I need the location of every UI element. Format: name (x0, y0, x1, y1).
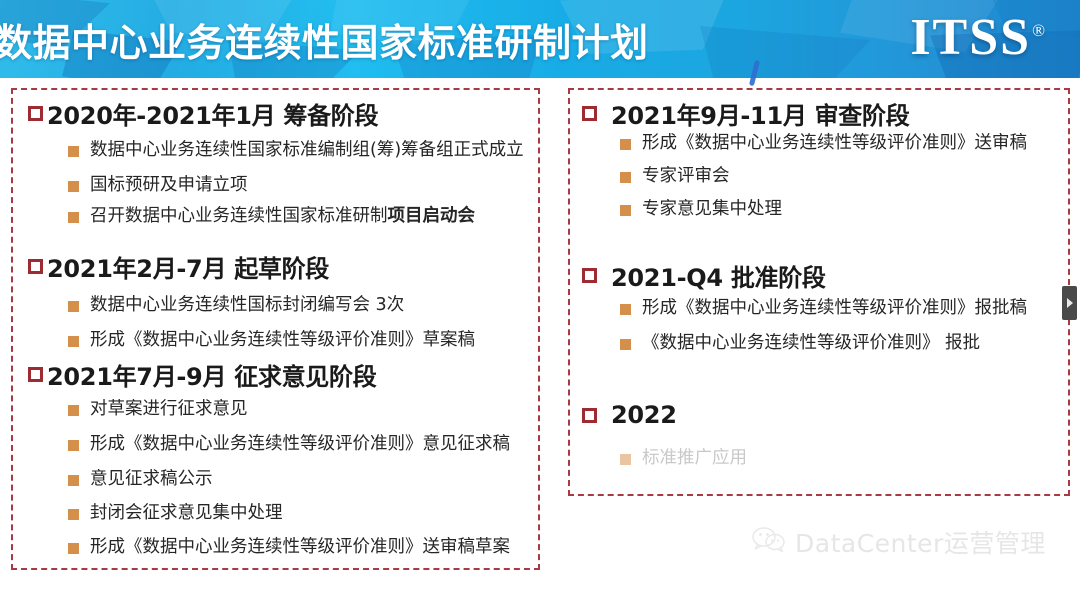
registered-trademark-icon: ® (1032, 21, 1045, 40)
square-bullet-icon (68, 181, 79, 192)
square-bullet-icon (68, 301, 79, 312)
list-item-label: 对草案进行征求意见 (90, 399, 248, 421)
list-item-label: 《数据中心业务连续性等级评价准则》 报批 (642, 333, 980, 355)
square-bullet-icon (620, 454, 631, 465)
list-item: 形成《数据中心业务连续性等级评价准则》意见征求稿 (68, 434, 510, 456)
slide-root: 数据中心业务连续性国家标准研制计划 ITSS® 2020年-2021年1月 筹备… (0, 0, 1080, 599)
list-item: 专家意见集中处理 (620, 199, 782, 221)
banner-shard (700, 26, 870, 78)
list-item-label: 标准推广应用 (642, 448, 747, 470)
phase-block: 2021年9月-11月 审查阶段 (582, 96, 1062, 131)
phase-block: 2021-Q4 批准阶段 (582, 258, 1062, 293)
list-item: 数据中心业务连续性国家标准编制组(筹)筹备组正式成立 (68, 140, 524, 162)
list-item: 专家评审会 (620, 166, 730, 188)
list-item-label: 形成《数据中心业务连续性等级评价准则》送审稿 (642, 133, 1027, 155)
square-bullet-icon (68, 146, 79, 157)
list-item: 《数据中心业务连续性等级评价准则》 报批 (620, 333, 980, 355)
list-item: 形成《数据中心业务连续性等级评价准则》报批稿 (620, 298, 1027, 320)
chevron-right-icon (1067, 298, 1073, 308)
square-bullet-icon (68, 440, 79, 451)
square-bullet-icon (620, 172, 631, 183)
list-item-label: 形成《数据中心业务连续性等级评价准则》报批稿 (642, 298, 1027, 320)
square-bullet-icon (620, 205, 631, 216)
square-outline-icon (28, 259, 43, 274)
list-item-label: 意见征求稿公示 (90, 469, 213, 491)
phase-heading: 2022 (582, 401, 1062, 429)
square-bullet-icon (620, 139, 631, 150)
list-item-label: 召开数据中心业务连续性国家标准研制项目启动会 (90, 206, 475, 228)
list-item: 召开数据中心业务连续性国家标准研制项目启动会 (68, 206, 475, 228)
itss-logo-text: ITSS (910, 9, 1031, 66)
square-bullet-icon (620, 304, 631, 315)
watermark: DataCenter运营管理 (752, 524, 1046, 560)
list-item-label: 形成《数据中心业务连续性等级评价准则》送审稿草案 (90, 537, 510, 559)
phase-heading: 2021-Q4 批准阶段 (582, 258, 1062, 293)
square-bullet-icon (68, 475, 79, 486)
square-bullet-icon (68, 336, 79, 347)
square-outline-icon (582, 408, 597, 423)
square-bullet-icon (68, 212, 79, 223)
list-item-label: 专家意见集中处理 (642, 199, 782, 221)
phase-heading: 2021年2月-7月 起草阶段 (28, 249, 528, 284)
phase-heading-text: 2021年9月-11月 审查阶段 (611, 96, 909, 131)
page-title: 数据中心业务连续性国家标准研制计划 (0, 12, 649, 67)
list-item: 形成《数据中心业务连续性等级评价准则》送审稿草案 (68, 537, 510, 559)
list-item-label: 数据中心业务连续性国家标准编制组(筹)筹备组正式成立 (90, 140, 524, 162)
phase-heading-text: 2021-Q4 批准阶段 (611, 258, 826, 293)
phase-block: 2020年-2021年1月 筹备阶段 (28, 96, 528, 131)
list-item-label: 形成《数据中心业务连续性等级评价准则》意见征求稿 (90, 434, 510, 456)
list-item-label: 封闭会征求意见集中处理 (90, 503, 283, 525)
phase-heading-text: 2021年2月-7月 起草阶段 (47, 249, 329, 284)
phase-heading-text: 2020年-2021年1月 筹备阶段 (47, 96, 378, 131)
square-outline-icon (582, 268, 597, 283)
list-item: 国标预研及申请立项 (68, 175, 248, 197)
list-item-label: 数据中心业务连续性国标封闭编写会 3次 (90, 295, 404, 317)
list-item-label: 形成《数据中心业务连续性等级评价准则》草案稿 (90, 330, 475, 352)
phase-block: 2021年7月-9月 征求意见阶段 (28, 357, 528, 392)
square-bullet-icon (68, 405, 79, 416)
phase-heading: 2020年-2021年1月 筹备阶段 (28, 96, 528, 131)
square-bullet-icon (620, 339, 631, 350)
list-item: 数据中心业务连续性国标封闭编写会 3次 (68, 295, 404, 317)
phase-block: 2021年2月-7月 起草阶段 (28, 249, 528, 284)
scroll-right-arrow-button[interactable] (1062, 286, 1077, 320)
itss-logo: ITSS® (910, 8, 1044, 67)
phase-heading: 2021年7月-9月 征求意见阶段 (28, 357, 528, 392)
square-bullet-icon (68, 543, 79, 554)
phase-heading: 2021年9月-11月 审查阶段 (582, 96, 1062, 131)
list-item: 对草案进行征求意见 (68, 399, 248, 421)
watermark-label: DataCenter运营管理 (795, 524, 1046, 560)
wechat-icon (752, 526, 786, 559)
list-item: 标准推广应用 (620, 448, 747, 470)
phase-heading-text: 2022 (611, 401, 677, 429)
square-bullet-icon (68, 509, 79, 520)
list-item: 封闭会征求意见集中处理 (68, 503, 283, 525)
square-outline-icon (28, 367, 43, 382)
phase-heading-text: 2021年7月-9月 征求意见阶段 (47, 357, 376, 392)
list-item: 意见征求稿公示 (68, 469, 213, 491)
phase-block: 2022 (582, 401, 1062, 429)
list-item-label: 专家评审会 (642, 166, 730, 188)
header-banner: 数据中心业务连续性国家标准研制计划 ITSS® (0, 0, 1080, 78)
list-item: 形成《数据中心业务连续性等级评价准则》草案稿 (68, 330, 475, 352)
square-outline-icon (582, 106, 597, 121)
square-outline-icon (28, 106, 43, 121)
list-item: 形成《数据中心业务连续性等级评价准则》送审稿 (620, 133, 1027, 155)
list-item-label: 国标预研及申请立项 (90, 175, 248, 197)
